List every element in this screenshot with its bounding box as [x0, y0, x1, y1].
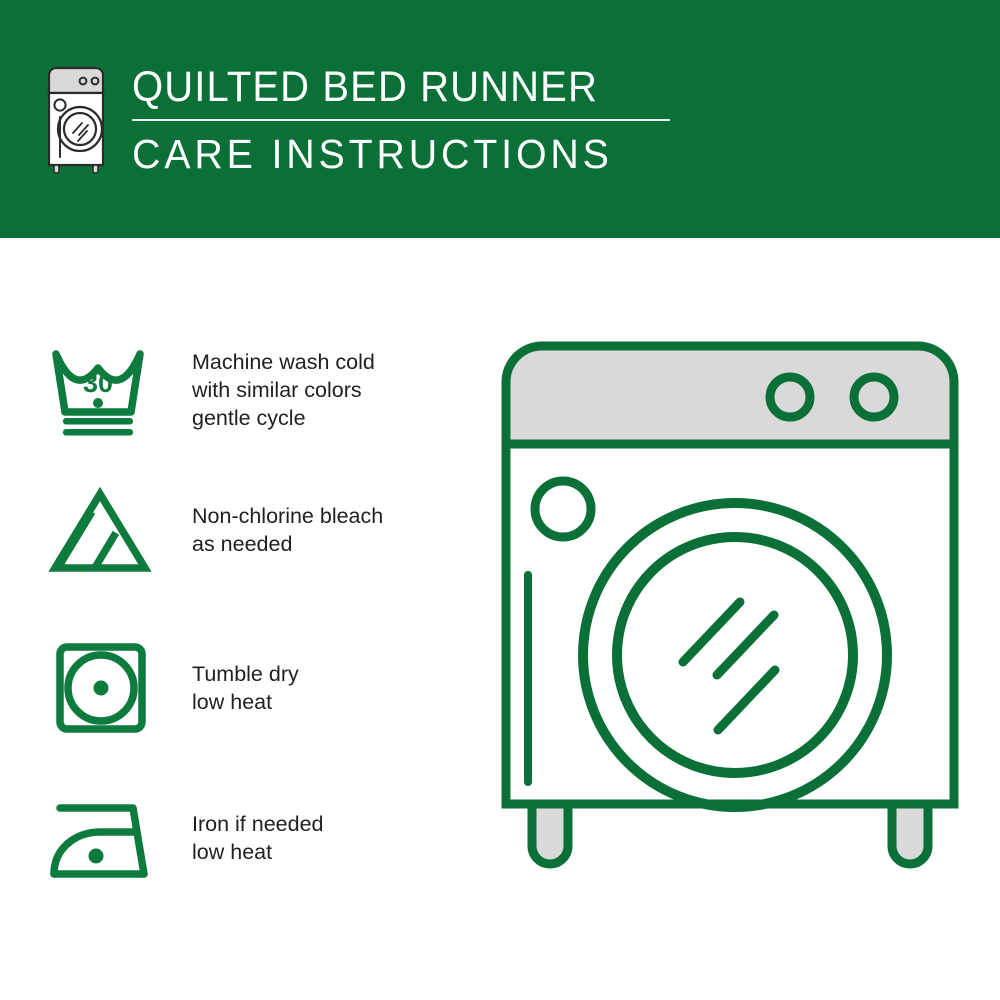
- care-item-machine-wash: 30 Machine wash cold with similar colors…: [48, 338, 375, 442]
- page-subtitle: CARE INSTRUCTIONS: [132, 130, 648, 178]
- leg-right: [892, 804, 928, 864]
- header-title-block: QUILTED BED RUNNER CARE INSTRUCTIONS: [132, 62, 670, 178]
- washing-machine-icon: [42, 65, 110, 177]
- page-title: QUILTED BED RUNNER: [132, 62, 632, 112]
- care-item-bleach: Non-chlorine bleach as needed: [48, 478, 383, 582]
- header-banner: QUILTED BED RUNNER CARE INSTRUCTIONS: [0, 0, 1000, 238]
- tumble-dry-low-heat-icon: [48, 636, 166, 740]
- non-chlorine-bleach-triangle-icon: [48, 478, 166, 582]
- care-item-label: Iron if needed low heat: [192, 810, 324, 866]
- iron-low-heat-icon: [48, 786, 166, 890]
- title-divider: [132, 119, 670, 121]
- care-item-iron: Iron if needed low heat: [48, 786, 324, 890]
- wash-temperature-value: 30: [83, 368, 113, 398]
- care-item-tumble-dry: Tumble dry low heat: [48, 636, 299, 740]
- care-item-label: Non-chlorine bleach as needed: [192, 502, 383, 558]
- wash-tub-30-gentle-icon: 30: [48, 338, 166, 442]
- care-item-label: Tumble dry low heat: [192, 660, 299, 716]
- leg-left: [532, 804, 568, 864]
- header-content: QUILTED BED RUNNER CARE INSTRUCTIONS: [42, 62, 670, 178]
- care-item-label: Machine wash cold with similar colors ge…: [192, 348, 375, 432]
- washing-machine-illustration: [490, 330, 970, 940]
- care-instructions-list: 30 Machine wash cold with similar colors…: [0, 238, 470, 1000]
- care-instructions-page: QUILTED BED RUNNER CARE INSTRUCTIONS: [0, 0, 1000, 1000]
- control-panel: [506, 346, 954, 444]
